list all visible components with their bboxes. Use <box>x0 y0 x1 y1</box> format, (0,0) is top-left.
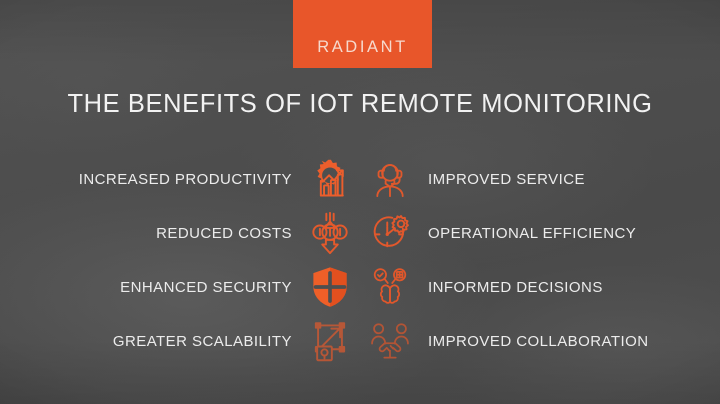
benefits-list: INCREASED PRODUCTIVITY <box>0 152 720 368</box>
benefit-item-greater-scalability: GREATER SCALABILITY <box>0 314 300 368</box>
shield-cross-icon <box>300 260 360 314</box>
benefit-label: REDUCED COSTS <box>156 225 300 242</box>
benefit-row: REDUCED COSTS <box>0 206 720 260</box>
benefit-row: INCREASED PRODUCTIVITY <box>0 152 720 206</box>
benefit-item-reduced-costs: REDUCED COSTS <box>0 206 300 260</box>
benefit-label: IMPROVED COLLABORATION <box>420 333 649 350</box>
benefit-label: INCREASED PRODUCTIVITY <box>79 171 300 188</box>
expand-arrow-scale-icon <box>300 314 360 368</box>
benefit-label: GREATER SCALABILITY <box>113 333 300 350</box>
brain-network-icon <box>360 260 420 314</box>
benefit-row: ENHANCED SECURITY <box>0 260 720 314</box>
benefit-row: GREATER SCALABILITY <box>0 314 720 368</box>
benefit-label: INFORMED DECISIONS <box>420 279 603 296</box>
benefit-label: IMPROVED SERVICE <box>420 171 585 188</box>
benefit-item-improved-service: IMPROVED SERVICE <box>420 152 720 206</box>
gear-bar-chart-icon <box>300 152 360 206</box>
clock-gear-icon <box>360 206 420 260</box>
benefit-item-operational-efficiency: OPERATIONAL EFFICIENCY <box>420 206 720 260</box>
page-title: THE BENEFITS OF IOT REMOTE MONITORING <box>0 90 720 119</box>
benefit-item-increased-productivity: INCREASED PRODUCTIVITY <box>0 152 300 206</box>
brand-name: RADIANT <box>317 12 408 57</box>
handshake-teamwork-icon <box>360 314 420 368</box>
headset-agent-icon <box>360 152 420 206</box>
presentation-slide: RADIANT THE BENEFITS OF IOT REMOTE MONIT… <box>0 0 720 404</box>
benefit-label: OPERATIONAL EFFICIENCY <box>420 225 636 242</box>
benefit-label: ENHANCED SECURITY <box>120 279 300 296</box>
brand-banner: RADIANT <box>293 0 432 68</box>
coins-down-arrow-icon <box>300 206 360 260</box>
benefit-item-enhanced-security: ENHANCED SECURITY <box>0 260 300 314</box>
benefit-item-improved-collaboration: IMPROVED COLLABORATION <box>420 314 720 368</box>
benefit-item-informed-decisions: INFORMED DECISIONS <box>420 260 720 314</box>
